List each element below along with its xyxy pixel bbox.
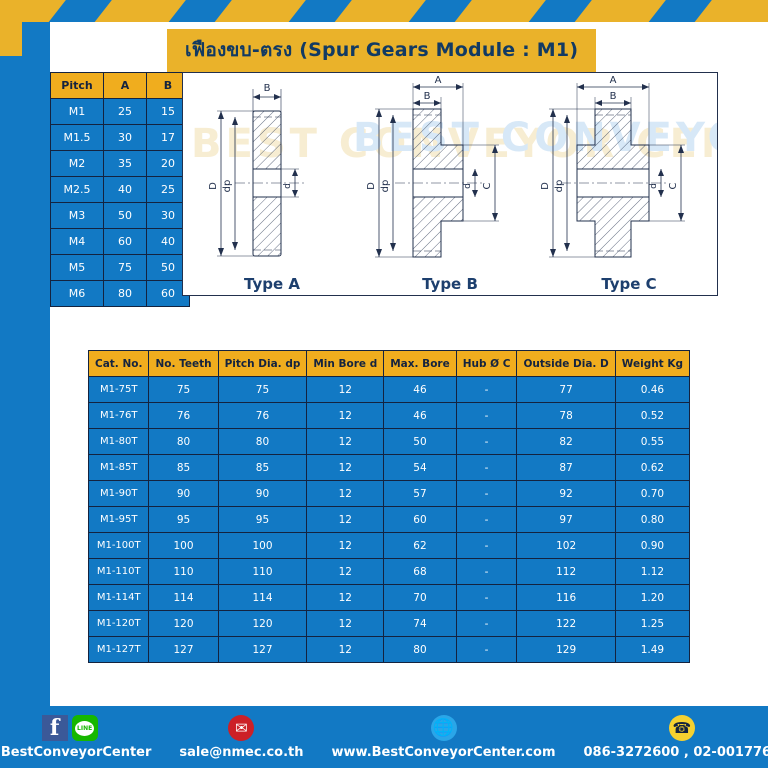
globe-icon[interactable]: 🌐 — [431, 715, 457, 741]
line-badge-label: LINE — [75, 721, 94, 736]
table-row: M1-75T75751246-770.46 — [89, 377, 689, 402]
svg-text:dp: dp — [222, 180, 233, 193]
table-row: M1-127T1271271280-1291.49 — [89, 637, 689, 662]
pitch-table-row: M57550 — [51, 255, 189, 280]
pitch-table-header-row: Pitch A B — [51, 73, 189, 98]
spec-cell: 77 — [517, 377, 614, 402]
spec-cell: 12 — [307, 507, 383, 532]
spec-cell: 12 — [307, 481, 383, 506]
spec-cell: 95 — [219, 507, 307, 532]
pitch-table: Pitch A B M12515M1.53017M23520M2.54025M3… — [50, 72, 190, 307]
line-icon[interactable]: LINE — [72, 715, 98, 741]
pitch-cell: 35 — [104, 151, 146, 176]
spec-cell-catno: M1-80T — [89, 429, 148, 454]
card-left-accent-bar — [22, 22, 50, 706]
type-b-drawing: A B D dp d C — [361, 73, 539, 273]
table-row: M1-80T80801250-820.55 — [89, 429, 689, 454]
spec-cell: 112 — [517, 559, 614, 584]
spec-cell: 0.52 — [616, 403, 689, 428]
spec-cell: 0.80 — [616, 507, 689, 532]
spec-cell: 50 — [384, 429, 455, 454]
pitch-table-row: M1.53017 — [51, 125, 189, 150]
spec-cell: 12 — [307, 403, 383, 428]
svg-text:d: d — [649, 183, 659, 189]
spec-cell-catno: M1-100T — [89, 533, 148, 558]
spec-cell: 60 — [384, 507, 455, 532]
type-a-label: Type A — [183, 275, 361, 293]
svg-text:D: D — [208, 182, 219, 190]
spec-cell: 70 — [384, 585, 455, 610]
spec-cell: 0.90 — [616, 533, 689, 558]
facebook-icon[interactable]: f — [42, 715, 68, 741]
svg-text:C: C — [482, 182, 493, 189]
spec-cell-catno: M1-114T — [89, 585, 148, 610]
svg-text:B: B — [424, 91, 431, 102]
spec-header-cell: Outside Dia. D — [517, 351, 614, 376]
spec-cell: 110 — [219, 559, 307, 584]
spec-cell: - — [457, 377, 517, 402]
spec-cell: 0.55 — [616, 429, 689, 454]
spec-cell: 90 — [219, 481, 307, 506]
spec-cell: 12 — [307, 533, 383, 558]
svg-text:C: C — [668, 182, 679, 189]
spec-cell: 1.25 — [616, 611, 689, 636]
spec-cell: 82 — [517, 429, 614, 454]
page-title: เฟืองขบ-ตรง (Spur Gears Module : M1) — [167, 29, 596, 73]
svg-text:d: d — [463, 183, 473, 189]
spec-cell: 46 — [384, 377, 455, 402]
table-row: M1-100T1001001262-1020.90 — [89, 533, 689, 558]
spec-cell: 75 — [219, 377, 307, 402]
spec-cell: 80 — [384, 637, 455, 662]
spec-cell: 1.49 — [616, 637, 689, 662]
table-row: M1-95T95951260-970.80 — [89, 507, 689, 532]
svg-text:D: D — [366, 182, 377, 190]
pitch-cell: M3 — [51, 203, 103, 228]
pitch-cell: 60 — [104, 229, 146, 254]
pitch-cell: 30 — [104, 125, 146, 150]
pitch-cell: M1.5 — [51, 125, 103, 150]
spec-cell: 110 — [149, 559, 217, 584]
spec-cell: - — [457, 429, 517, 454]
pitch-cell: M4 — [51, 229, 103, 254]
table-row: M1-90T90901257-920.70 — [89, 481, 689, 506]
spec-cell-catno: M1-95T — [89, 507, 148, 532]
pitch-cell: M6 — [51, 281, 103, 306]
spec-cell-catno: M1-75T — [89, 377, 148, 402]
spec-cell: 100 — [149, 533, 217, 558]
type-b-label: Type B — [361, 275, 539, 293]
spec-table-header-row: Cat. No.No. TeethPitch Dia. dpMin Bore d… — [89, 351, 689, 376]
pitch-table-row: M2.54025 — [51, 177, 189, 202]
spec-cell: 102 — [517, 533, 614, 558]
spec-cell: - — [457, 455, 517, 480]
svg-text:B: B — [264, 83, 271, 94]
spec-cell: - — [457, 637, 517, 662]
svg-text:B: B — [610, 91, 617, 102]
pitch-header-a: A — [104, 73, 146, 98]
table-row: M1-120T1201201274-1221.25 — [89, 611, 689, 636]
spec-cell: - — [457, 481, 517, 506]
spec-header-cell: Cat. No. — [89, 351, 148, 376]
spec-cell: 46 — [384, 403, 455, 428]
table-row: M1-85T85851254-870.62 — [89, 455, 689, 480]
spec-cell: 114 — [149, 585, 217, 610]
pitch-table-row: M35030 — [51, 203, 189, 228]
spec-cell: 76 — [149, 403, 217, 428]
spec-cell: 127 — [219, 637, 307, 662]
spec-cell: 0.62 — [616, 455, 689, 480]
spec-cell: 62 — [384, 533, 455, 558]
pitch-header-pitch: Pitch — [51, 73, 103, 98]
spec-cell: 114 — [219, 585, 307, 610]
pitch-table-row: M68060 — [51, 281, 189, 306]
phone-icon[interactable]: ☎ — [669, 715, 695, 741]
spec-header-cell: No. Teeth — [149, 351, 217, 376]
spec-cell: 120 — [219, 611, 307, 636]
spec-cell: 100 — [219, 533, 307, 558]
spec-cell: 12 — [307, 455, 383, 480]
diagram-type-b: A B D dp d C Type B — [361, 73, 539, 296]
svg-text:dp: dp — [554, 180, 565, 193]
diagram-type-c: A B D dp d C T — [539, 73, 718, 296]
pitch-cell: 80 — [104, 281, 146, 306]
table-row: M1-110T1101101268-1121.12 — [89, 559, 689, 584]
spec-cell: 57 — [384, 481, 455, 506]
spec-cell: 90 — [149, 481, 217, 506]
pitch-cell: 40 — [104, 177, 146, 202]
spec-cell: - — [457, 403, 517, 428]
table-row: M1-76T76761246-780.52 — [89, 403, 689, 428]
table-row: M1-114T1141141270-1161.20 — [89, 585, 689, 610]
spec-cell: 87 — [517, 455, 614, 480]
type-c-label: Type C — [539, 275, 718, 293]
spec-cell: 92 — [517, 481, 614, 506]
spec-cell-catno: M1-76T — [89, 403, 148, 428]
spec-cell: 0.46 — [616, 377, 689, 402]
footer-label-email: sale@nmec.co.th — [179, 745, 303, 760]
spec-cell: 122 — [517, 611, 614, 636]
svg-text:A: A — [610, 75, 617, 86]
spec-cell: 12 — [307, 377, 383, 402]
spec-cell: 1.20 — [616, 585, 689, 610]
spec-cell: - — [457, 533, 517, 558]
spec-header-cell: Min Bore d — [307, 351, 383, 376]
spec-cell: - — [457, 507, 517, 532]
spec-cell-catno: M1-110T — [89, 559, 148, 584]
spec-cell: 12 — [307, 429, 383, 454]
diagram-type-a: B D dp d Type A — [183, 73, 361, 296]
spec-cell: - — [457, 559, 517, 584]
pitch-cell: M2 — [51, 151, 103, 176]
spec-cell: 0.70 — [616, 481, 689, 506]
spec-cell: 1.12 — [616, 559, 689, 584]
footer-label-website: www.BestConveyorCenter.com — [332, 745, 556, 760]
spec-cell: 85 — [149, 455, 217, 480]
spec-header-cell: Pitch Dia. dp — [219, 351, 307, 376]
spec-cell: 80 — [149, 429, 217, 454]
spec-cell: 12 — [307, 637, 383, 662]
spec-cell: - — [457, 611, 517, 636]
spec-cell: 68 — [384, 559, 455, 584]
spec-cell: 116 — [517, 585, 614, 610]
spec-header-cell: Max. Bore — [384, 351, 455, 376]
pitch-table-row: M23520 — [51, 151, 189, 176]
footer-item-facebook[interactable]: f LINE @BestConveyorCenter — [0, 714, 151, 760]
spec-cell: 12 — [307, 559, 383, 584]
pitch-cell: 75 — [104, 255, 146, 280]
spec-header-cell: Weight Kg — [616, 351, 689, 376]
spec-cell: 74 — [384, 611, 455, 636]
pitch-cell: 50 — [104, 203, 146, 228]
pitch-table-row: M46040 — [51, 229, 189, 254]
spec-cell-catno: M1-85T — [89, 455, 148, 480]
svg-text:A: A — [435, 75, 442, 86]
footer-item-phone[interactable]: ☎ 086-3272600 , 02-0017766 — [584, 714, 768, 760]
spec-cell: 76 — [219, 403, 307, 428]
pitch-cell: M2.5 — [51, 177, 103, 202]
spec-cell: 12 — [307, 585, 383, 610]
spec-cell: 78 — [517, 403, 614, 428]
spec-table: Cat. No.No. TeethPitch Dia. dpMin Bore d… — [88, 350, 690, 663]
spec-cell: 54 — [384, 455, 455, 480]
pitch-cell: M1 — [51, 99, 103, 124]
email-icon[interactable]: ✉ — [228, 715, 254, 741]
svg-text:dp: dp — [380, 180, 391, 193]
footer-label-facebook: @BestConveyorCenter — [0, 745, 151, 760]
spec-cell: 127 — [149, 637, 217, 662]
pitch-cell: M5 — [51, 255, 103, 280]
spec-cell: 129 — [517, 637, 614, 662]
spec-cell: 80 — [219, 429, 307, 454]
type-a-drawing: B D dp d — [183, 73, 361, 273]
type-c-drawing: A B D dp d C — [539, 73, 718, 273]
spec-cell: - — [457, 585, 517, 610]
footer-item-website[interactable]: 🌐 www.BestConveyorCenter.com — [332, 714, 556, 760]
svg-text:d: d — [283, 183, 293, 189]
spec-cell: 75 — [149, 377, 217, 402]
spec-cell: 85 — [219, 455, 307, 480]
pitch-cell: 25 — [104, 99, 146, 124]
spec-cell: 95 — [149, 507, 217, 532]
spec-cell: 12 — [307, 611, 383, 636]
spec-cell-catno: M1-90T — [89, 481, 148, 506]
spec-cell-catno: M1-127T — [89, 637, 148, 662]
gear-type-diagram-panel: BEST CONVEYOR CENTER BEST CONVEYOR CENTE… — [182, 72, 718, 296]
footer-contact-bar: f LINE @BestConveyorCenter ✉ sale@nmec.c… — [0, 706, 768, 768]
spec-cell: 120 — [149, 611, 217, 636]
pitch-table-row: M12515 — [51, 99, 189, 124]
footer-label-phone: 086-3272600 , 02-0017766 — [584, 745, 768, 760]
spec-cell-catno: M1-120T — [89, 611, 148, 636]
svg-text:D: D — [540, 182, 551, 190]
spec-header-cell: Hub Ø C — [457, 351, 517, 376]
spec-cell: 97 — [517, 507, 614, 532]
footer-item-email[interactable]: ✉ sale@nmec.co.th — [179, 714, 303, 760]
